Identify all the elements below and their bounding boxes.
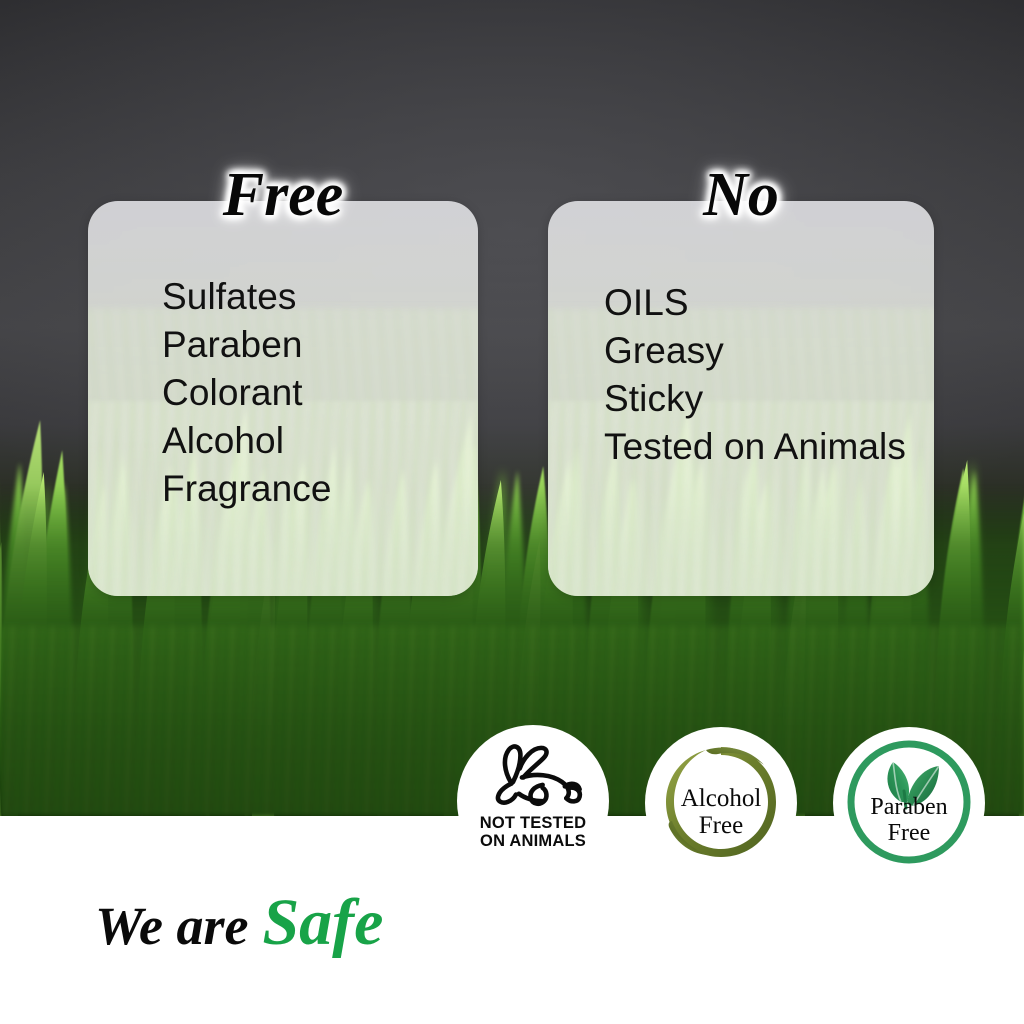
paraben-free-ring-wrap: Paraben Free — [843, 736, 975, 868]
list-item: Alcohol — [162, 417, 478, 465]
badge-paraben-free: Paraben Free — [833, 727, 985, 879]
cruelty-free-label: NOT TESTED ON ANIMALS — [480, 815, 587, 850]
no-card: OILS Greasy Sticky Tested on Animals — [548, 201, 934, 596]
tagline-prefix: We are — [95, 896, 248, 956]
tagline-highlight: Safe — [262, 886, 383, 959]
list-item: Paraben — [162, 321, 478, 369]
free-card-list: Sulfates Paraben Colorant Alcohol Fragra… — [88, 201, 478, 596]
paraben-free-line1: Paraben — [843, 794, 975, 820]
tagline: We areSafe — [95, 893, 383, 956]
list-item: Colorant — [162, 369, 478, 417]
poster-canvas: Sulfates Paraben Colorant Alcohol Fragra… — [0, 0, 1024, 1024]
alcohol-free-ring-wrap: Alcohol Free — [656, 737, 786, 867]
list-item: Fragrance — [162, 465, 478, 513]
list-item: Tested on Animals — [604, 423, 934, 471]
alcohol-free-line1: Alcohol — [656, 785, 786, 812]
free-heading: Free — [88, 160, 478, 231]
list-item: Sulfates — [162, 273, 478, 321]
no-heading: No — [548, 160, 934, 231]
badge-alcohol-free: Alcohol Free — [645, 727, 797, 879]
paraben-free-line2: Free — [843, 820, 975, 846]
cruelty-free-line2: ON ANIMALS — [480, 833, 587, 851]
paraben-free-label: Paraben Free — [843, 794, 975, 846]
cruelty-free-line1: NOT TESTED — [480, 815, 587, 833]
no-card-list: OILS Greasy Sticky Tested on Animals — [548, 201, 934, 596]
list-item: Sticky — [604, 375, 934, 423]
list-item: Greasy — [604, 327, 934, 375]
badge-cruelty-free: NOT TESTED ON ANIMALS — [457, 725, 609, 877]
list-item: OILS — [604, 279, 934, 327]
alcohol-free-line2: Free — [656, 812, 786, 839]
rabbit-icon — [477, 739, 589, 813]
alcohol-free-label: Alcohol Free — [656, 785, 786, 839]
free-card: Sulfates Paraben Colorant Alcohol Fragra… — [88, 201, 478, 596]
